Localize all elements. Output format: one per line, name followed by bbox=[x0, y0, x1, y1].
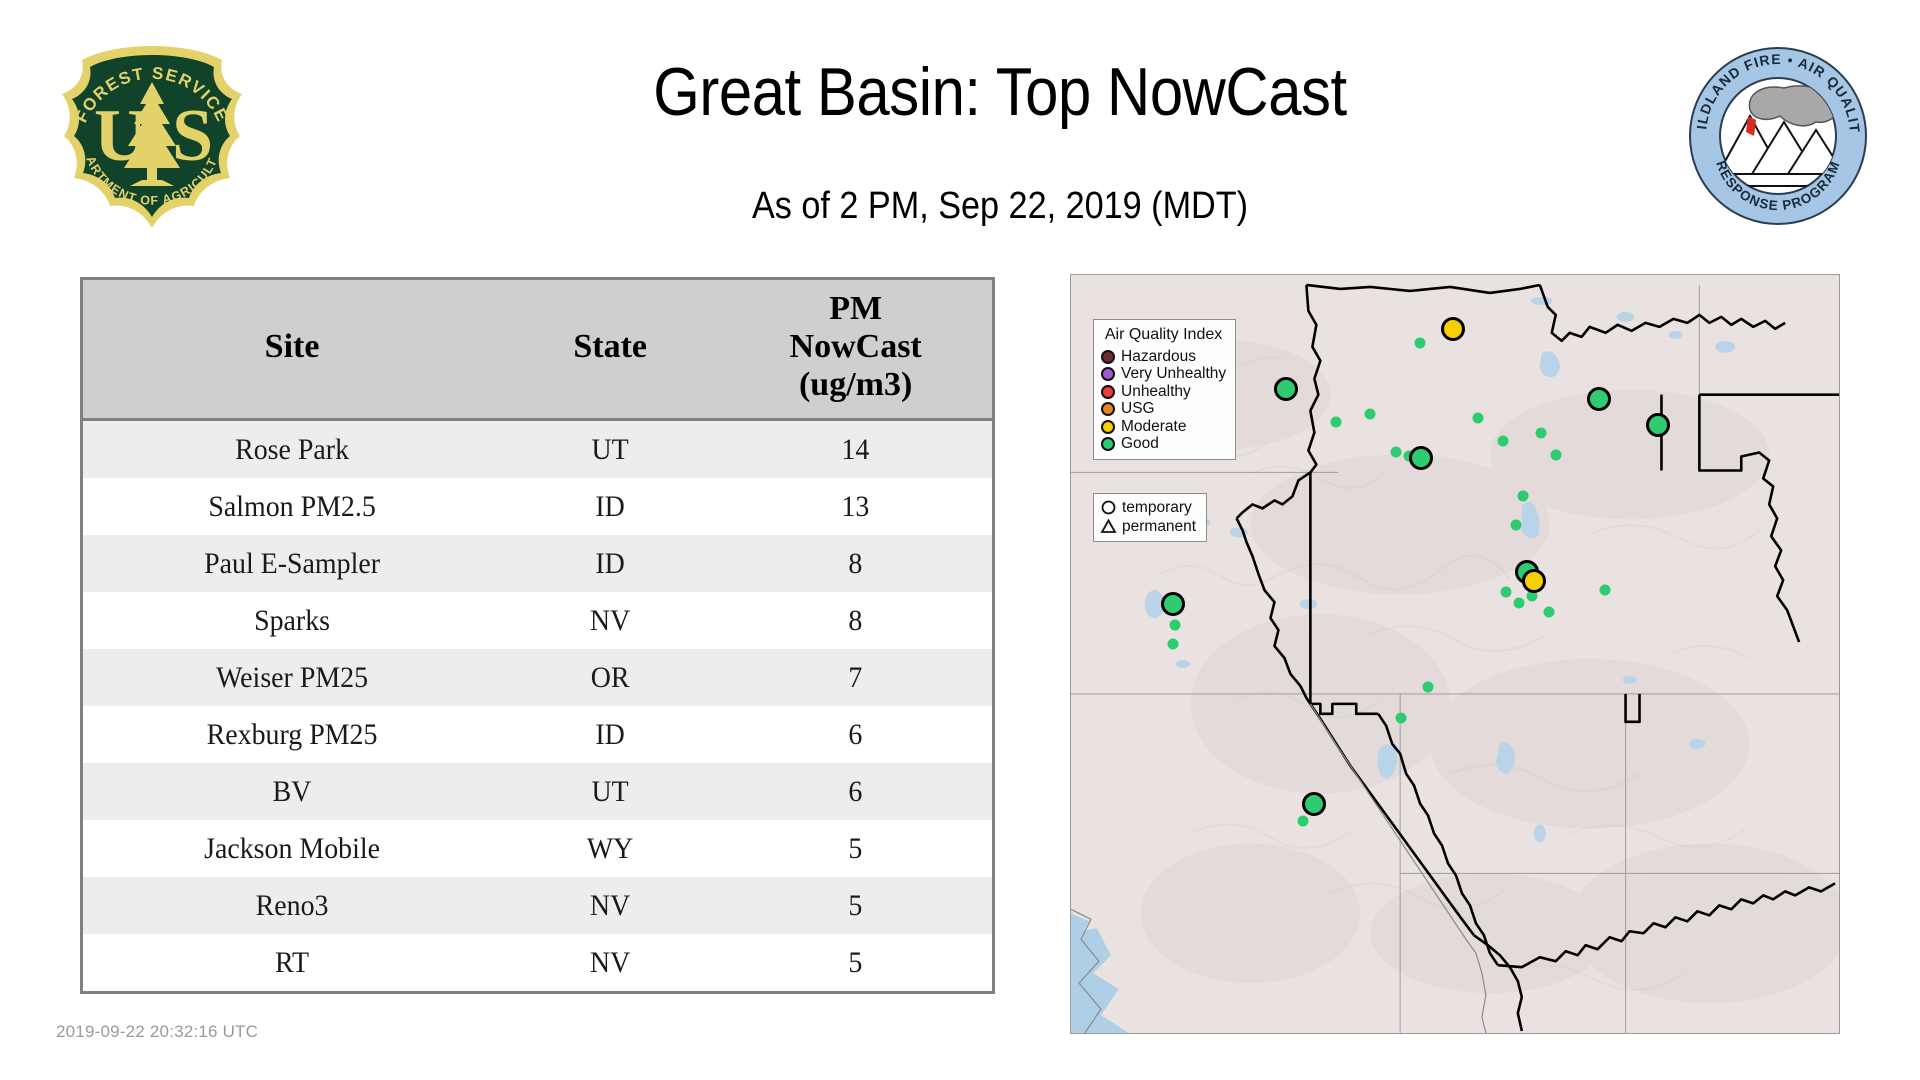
aqi-legend-label: Very Unhealthy bbox=[1121, 365, 1226, 382]
map-site-marker-small[interactable] bbox=[1599, 585, 1610, 596]
table-row: Jackson MobileWY5 bbox=[83, 820, 992, 877]
pm-cell: 5 bbox=[729, 820, 983, 877]
site-cell: RT bbox=[98, 934, 487, 991]
table-row: Weiser PM25OR7 bbox=[83, 649, 992, 706]
site-type-legend: temporary permanent bbox=[1093, 493, 1207, 542]
map-site-marker-large[interactable] bbox=[1646, 413, 1670, 437]
aqi-legend-label: Good bbox=[1121, 435, 1159, 452]
aqi-legend-label: USG bbox=[1121, 400, 1155, 417]
site-cell: Weiser PM25 bbox=[98, 649, 487, 706]
map-site-marker-small[interactable] bbox=[1511, 520, 1522, 531]
table-row: SparksNV8 bbox=[83, 592, 992, 649]
table-row: RTNV5 bbox=[83, 934, 992, 991]
map-site-marker-small[interactable] bbox=[1364, 408, 1375, 419]
map-site-marker-small[interactable] bbox=[1170, 620, 1181, 631]
state-cell: WY bbox=[509, 820, 712, 877]
aqi-legend-label: Unhealthy bbox=[1121, 383, 1191, 400]
state-cell: NV bbox=[509, 592, 712, 649]
table-header-row: Site State PM NowCast (ug/m3) bbox=[83, 280, 992, 420]
site-cell: Paul E-Sampler bbox=[98, 535, 487, 592]
fs-letter-s: S bbox=[172, 95, 213, 177]
pm-header-line-2: NowCast bbox=[790, 328, 922, 365]
legend-permanent: permanent bbox=[1100, 517, 1196, 536]
state-cell: ID bbox=[509, 535, 712, 592]
map-site-marker-small[interactable] bbox=[1396, 713, 1407, 724]
aqi-legend-label: Moderate bbox=[1121, 418, 1186, 435]
map-site-marker-small[interactable] bbox=[1518, 490, 1529, 501]
aqi-legend-row: Hazardous bbox=[1101, 348, 1226, 366]
wfaqrp-logo: WILDLAND FIRE • AIR QUALITY RESPONSE PRO… bbox=[1688, 46, 1868, 226]
aqi-swatch-icon bbox=[1101, 385, 1115, 399]
aqi-legend-row: Very Unhealthy bbox=[1101, 365, 1226, 383]
map-site-marker-small[interactable] bbox=[1297, 815, 1308, 826]
aqi-legend-row: Unhealthy bbox=[1101, 383, 1226, 401]
forest-service-logo: FOREST SERVICE DEPARTMENT OF AGRICULTURE… bbox=[52, 38, 252, 238]
aqi-legend-label: Hazardous bbox=[1121, 348, 1196, 365]
table-row: Rexburg PM25ID6 bbox=[83, 706, 992, 763]
map-site-marker-large[interactable] bbox=[1441, 317, 1465, 341]
footer-timestamp: 2019-09-22 20:32:16 UTC bbox=[56, 1022, 258, 1042]
map-site-marker-small[interactable] bbox=[1513, 598, 1524, 609]
aqi-swatch-icon bbox=[1101, 367, 1115, 381]
map-site-marker-small[interactable] bbox=[1414, 338, 1425, 349]
map-site-marker-large[interactable] bbox=[1409, 446, 1433, 470]
column-header-state: State bbox=[501, 280, 719, 420]
circle-icon bbox=[1100, 499, 1117, 516]
map-site-marker-small[interactable] bbox=[1550, 450, 1561, 461]
map-site-marker-large[interactable] bbox=[1161, 592, 1185, 616]
aqi-legend: Air Quality Index HazardousVery Unhealth… bbox=[1093, 319, 1236, 460]
site-cell: Sparks bbox=[98, 592, 487, 649]
map-site-marker-large[interactable] bbox=[1522, 569, 1546, 593]
pm-cell: 14 bbox=[729, 420, 983, 479]
table-row: Reno3NV5 bbox=[83, 877, 992, 934]
state-cell: ID bbox=[509, 478, 712, 535]
pm-cell: 6 bbox=[729, 706, 983, 763]
column-header-pm-nowcast: PM NowCast (ug/m3) bbox=[719, 280, 992, 420]
map-site-marker-small[interactable] bbox=[1330, 417, 1341, 428]
state-cell: ID bbox=[509, 706, 712, 763]
aqi-swatch-icon bbox=[1101, 350, 1115, 364]
map-site-marker-large[interactable] bbox=[1302, 792, 1326, 816]
column-header-site: Site bbox=[83, 280, 501, 420]
table-row: BVUT6 bbox=[83, 763, 992, 820]
map-site-marker-small[interactable] bbox=[1473, 413, 1484, 424]
aqi-swatch-icon bbox=[1101, 420, 1115, 434]
state-cell: UT bbox=[509, 763, 712, 820]
pm-cell: 8 bbox=[729, 535, 983, 592]
triangle-icon bbox=[1100, 518, 1117, 535]
map-site-marker-small[interactable] bbox=[1423, 682, 1434, 693]
aqi-swatch-icon bbox=[1101, 402, 1115, 416]
pm-header-line-3: (ug/m3) bbox=[799, 366, 912, 403]
nowcast-table: Site State PM NowCast (ug/m3) Rose ParkU… bbox=[80, 277, 995, 994]
map-site-marker-small[interactable] bbox=[1544, 607, 1555, 618]
aqi-legend-row: Good bbox=[1101, 435, 1226, 453]
site-cell: Rose Park bbox=[98, 420, 487, 479]
state-cell: OR bbox=[509, 649, 712, 706]
aqi-legend-row: USG bbox=[1101, 400, 1226, 418]
aqi-legend-row: Moderate bbox=[1101, 418, 1226, 436]
site-cell: Reno3 bbox=[98, 877, 487, 934]
pm-cell: 5 bbox=[729, 877, 983, 934]
pm-cell: 13 bbox=[729, 478, 983, 535]
table-row: Salmon PM2.5ID13 bbox=[83, 478, 992, 535]
aqi-legend-title: Air Quality Index bbox=[1101, 326, 1226, 344]
legend-temporary-label: temporary bbox=[1122, 499, 1192, 517]
pm-cell: 8 bbox=[729, 592, 983, 649]
map-site-marker-large[interactable] bbox=[1587, 387, 1611, 411]
table-row: Rose ParkUT14 bbox=[83, 420, 992, 479]
pm-cell: 7 bbox=[729, 649, 983, 706]
aqi-swatch-icon bbox=[1101, 437, 1115, 451]
air-quality-map[interactable]: Air Quality Index HazardousVery Unhealth… bbox=[1070, 274, 1840, 1034]
site-cell: BV bbox=[98, 763, 487, 820]
map-site-marker-small[interactable] bbox=[1498, 436, 1509, 447]
state-cell: NV bbox=[509, 877, 712, 934]
pm-header-line-1: PM bbox=[829, 290, 882, 327]
legend-permanent-label: permanent bbox=[1122, 518, 1196, 536]
map-site-marker-small[interactable] bbox=[1390, 447, 1401, 458]
table-row: Paul E-SamplerID8 bbox=[83, 535, 992, 592]
page-subtitle: As of 2 PM, Sep 22, 2019 (MDT) bbox=[424, 185, 1576, 228]
site-cell: Rexburg PM25 bbox=[98, 706, 487, 763]
map-site-marker-large[interactable] bbox=[1274, 377, 1298, 401]
map-site-marker-small[interactable] bbox=[1501, 586, 1512, 597]
pm-cell: 5 bbox=[729, 934, 983, 991]
legend-temporary: temporary bbox=[1100, 498, 1196, 517]
state-cell: UT bbox=[509, 420, 712, 479]
pm-cell: 6 bbox=[729, 763, 983, 820]
site-cell: Salmon PM2.5 bbox=[98, 478, 487, 535]
page-title: Great Basin: Top NowCast bbox=[437, 58, 1563, 126]
site-cell: Jackson Mobile bbox=[98, 820, 487, 877]
map-site-marker-small[interactable] bbox=[1168, 639, 1179, 650]
state-cell: NV bbox=[509, 934, 712, 991]
map-site-marker-small[interactable] bbox=[1536, 428, 1547, 439]
